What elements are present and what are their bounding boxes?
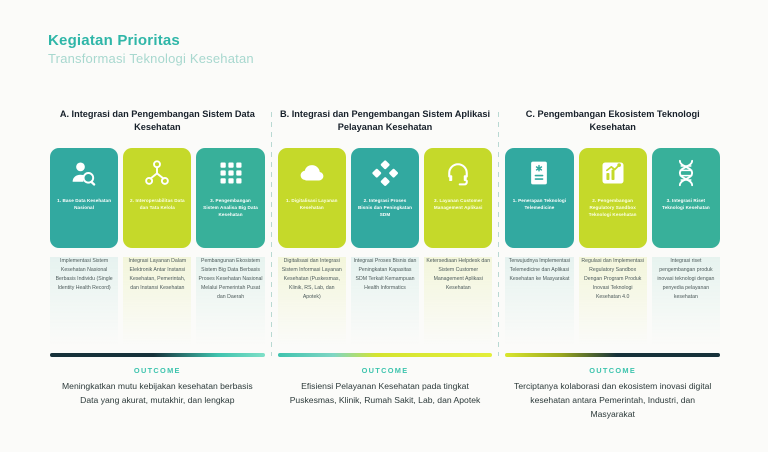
card-c1-label: 1. Penerapan Teknologi Telemedicine [509,198,569,212]
outcome-c-kicker: OUTCOME [505,366,720,375]
desc-c1: Terwujudnya Implementasi Telemedicine da… [505,257,573,345]
column-c-heading: C. Pengembangan Ekosistem Teknologi Kese… [505,108,720,142]
page-subtitle: Transformasi Teknologi Kesehatan [48,52,254,67]
column-c-outcome: OUTCOME Terciptanya kolaborasi dan ekosi… [505,366,720,421]
outcome-b-text: Efisiensi Pelayanan Kesehatan pada tingk… [278,380,493,408]
share-nodes-icon [142,158,172,188]
grid-blocks-icon [216,158,246,188]
card-b3-label: 3. Layanan Customer Management Aplikasi [428,198,488,212]
card-a1[interactable]: 1. Base Data Kesehatan Nasional [50,148,118,248]
header: Kegiatan Prioritas Transformasi Teknolog… [48,32,254,67]
column-c: C. Pengembangan Ekosistem Teknologi Kese… [499,108,726,428]
columns-container: A. Integrasi dan Pengembangan Sistem Dat… [44,108,726,428]
card-a1-label: 1. Base Data Kesehatan Nasional [54,198,114,212]
card-c1[interactable]: 1. Penerapan Teknologi Telemedicine [505,148,573,248]
card-b2[interactable]: 2. Integrasi Proses Bisnis dan Peningkat… [351,148,419,248]
analytics-chart-icon [598,158,628,188]
headset-icon [443,158,473,188]
column-a-outcome: OUTCOME Meningkatkan mutu kebijakan kese… [50,366,265,408]
desc-b1: Digitalisasi dan Integrasi Sistem Inform… [278,257,346,345]
diamond-grid-icon [370,158,400,188]
desc-c3: Integrasi riset pengembangan produk inov… [652,257,720,345]
column-c-rule [505,353,720,357]
infographic-canvas: Kegiatan Prioritas Transformasi Teknolog… [0,0,768,452]
outcome-a-text: Meningkatkan mutu kebijakan kesehatan be… [50,380,265,408]
card-b1[interactable]: 1. Digitalisasi Layanan Kesehatan [278,148,346,248]
desc-b3: Ketersediaan Helpdesk dan Sistem Custome… [424,257,492,345]
column-c-cards: 1. Penerapan Teknologi Telemedicine 2. P… [505,148,720,248]
card-a2-label: 2. Interoperabilitas Data dan Tata Kelol… [127,198,187,212]
column-c-descriptions: Terwujudnya Implementasi Telemedicine da… [505,257,720,345]
card-c2[interactable]: 2. Pengembangan Regulatory Sandbox Tekno… [579,148,647,248]
page-title: Kegiatan Prioritas [48,32,254,49]
card-c2-label: 2. Pengembangan Regulatory Sandbox Tekno… [583,198,643,219]
column-a-heading: A. Integrasi dan Pengembangan Sistem Dat… [50,108,265,142]
outcome-c-text: Terciptanya kolaborasi dan ekosistem ino… [505,380,720,421]
card-b2-label: 2. Integrasi Proses Bisnis dan Peningkat… [355,198,415,219]
cloud-icon [297,158,327,188]
desc-c2: Regulasi dan Implementasi Regulatory San… [579,257,647,345]
card-a3-label: 3. Pengembangan Sistem Analisa Big Data … [200,198,260,219]
card-b3[interactable]: 3. Layanan Customer Management Aplikasi [424,148,492,248]
card-a3[interactable]: 3. Pengembangan Sistem Analisa Big Data … [196,148,264,248]
desc-a3: Pembangunan Ekosistem Sistem Big Data Be… [196,257,264,345]
column-b-cards: 1. Digitalisasi Layanan Kesehatan 2. Int… [278,148,493,248]
dna-helix-icon [671,158,701,188]
column-b-heading: B. Integrasi dan Pengembangan Sistem Apl… [278,108,493,142]
column-a: A. Integrasi dan Pengembangan Sistem Dat… [44,108,271,428]
desc-a2: Integrasi Layanan Dalam Elektronik Antar… [123,257,191,345]
column-a-descriptions: Implementasi Sistem Kesehatan Nasional B… [50,257,265,345]
user-search-icon [69,158,99,188]
card-c3-label: 3. Integrasi Riset Teknologi Kesehatan [656,198,716,212]
outcome-a-kicker: OUTCOME [50,366,265,375]
column-b-outcome: OUTCOME Efisiensi Pelayanan Kesehatan pa… [278,366,493,408]
desc-a1: Implementasi Sistem Kesehatan Nasional B… [50,257,118,345]
outcome-b-kicker: OUTCOME [278,366,493,375]
column-b-rule [278,353,493,357]
column-b-descriptions: Digitalisasi dan Integrasi Sistem Inform… [278,257,493,345]
column-a-cards: 1. Base Data Kesehatan Nasional 2. Inter… [50,148,265,248]
desc-b2: Integrasi Proses Bisnis dan Peningkatan … [351,257,419,345]
card-b1-label: 1. Digitalisasi Layanan Kesehatan [282,198,342,212]
card-c3[interactable]: 3. Integrasi Riset Teknologi Kesehatan [652,148,720,248]
column-b: B. Integrasi dan Pengembangan Sistem Apl… [272,108,499,428]
card-a2[interactable]: 2. Interoperabilitas Data dan Tata Kelol… [123,148,191,248]
column-a-rule [50,353,265,357]
medical-document-icon [524,158,554,188]
